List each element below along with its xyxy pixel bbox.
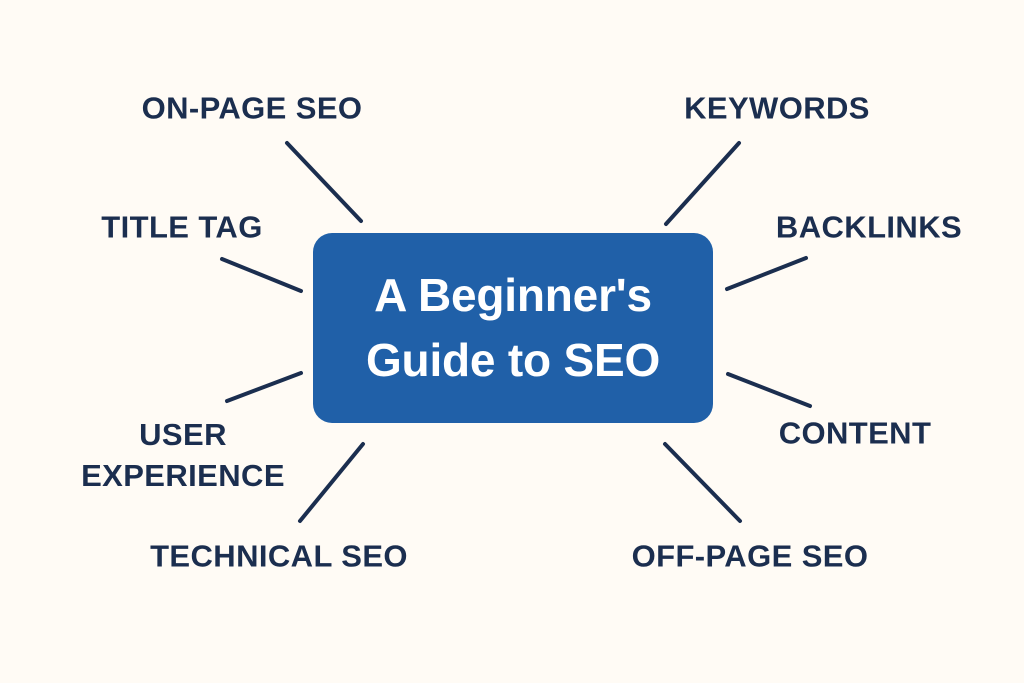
central-node-title: A Beginner's Guide to SEO (366, 263, 660, 394)
connector-keywords (666, 143, 739, 224)
node-label-technical-seo[interactable]: TECHNICAL SEO (150, 535, 408, 576)
connector-on-page-seo (287, 143, 361, 221)
node-label-on-page-seo[interactable]: ON-PAGE SEO (142, 87, 363, 128)
node-label-user-experience[interactable]: USER EXPERIENCE (81, 414, 285, 496)
connector-content (728, 374, 810, 406)
connector-off-page-seo (665, 444, 740, 521)
central-node: A Beginner's Guide to SEO (313, 233, 713, 423)
node-label-keywords[interactable]: KEYWORDS (684, 87, 870, 128)
connector-title-tag (222, 259, 301, 291)
node-label-title-tag[interactable]: TITLE TAG (101, 206, 262, 247)
connector-user-experience (227, 373, 301, 401)
connector-backlinks (727, 258, 806, 289)
connector-technical-seo (300, 444, 363, 521)
diagram-canvas: A Beginner's Guide to SEO ON-PAGE SEOKEY… (0, 0, 1024, 683)
node-label-off-page-seo[interactable]: OFF-PAGE SEO (632, 535, 869, 576)
node-label-content[interactable]: CONTENT (779, 412, 932, 453)
node-label-backlinks[interactable]: BACKLINKS (776, 206, 962, 247)
